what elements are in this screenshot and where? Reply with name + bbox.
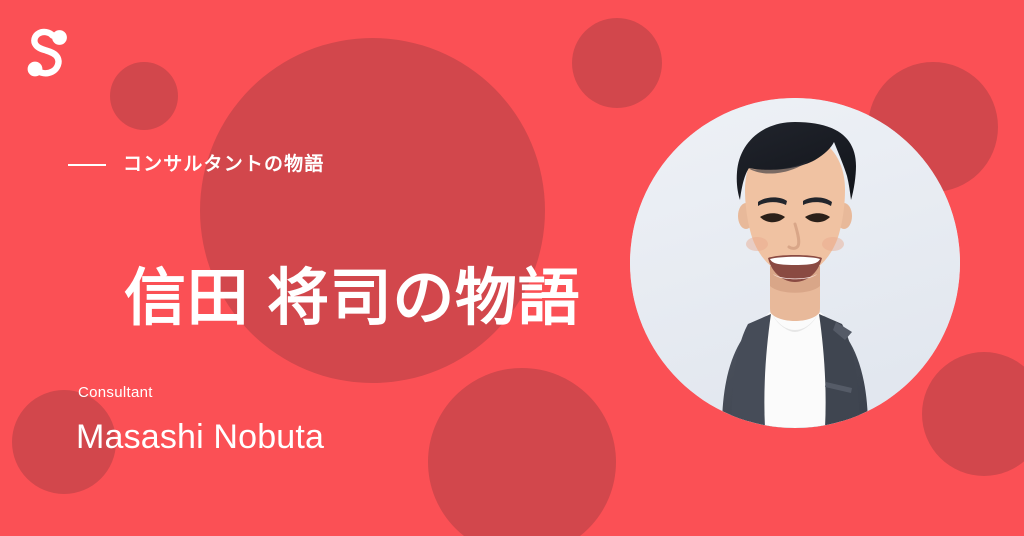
- circle-bottom-right: [922, 352, 1024, 476]
- eyebrow: コンサルタントの物語: [68, 155, 324, 174]
- eyebrow-rule-icon: [68, 164, 106, 166]
- consultant-portrait: [630, 98, 960, 428]
- page-title: 信田 将司の物語: [124, 264, 580, 333]
- person-name: Masashi Nobuta: [76, 418, 324, 457]
- role-label: Consultant: [78, 385, 153, 400]
- consultant-story-banner: コンサルタントの物語 信田 将司の物語 Consultant Masashi N…: [0, 0, 1024, 536]
- eyebrow-label: コンサルタントの物語: [123, 155, 324, 174]
- banner-content: コンサルタントの物語 信田 将司の物語 Consultant Masashi N…: [0, 0, 640, 536]
- portrait-illustration: [630, 98, 960, 428]
